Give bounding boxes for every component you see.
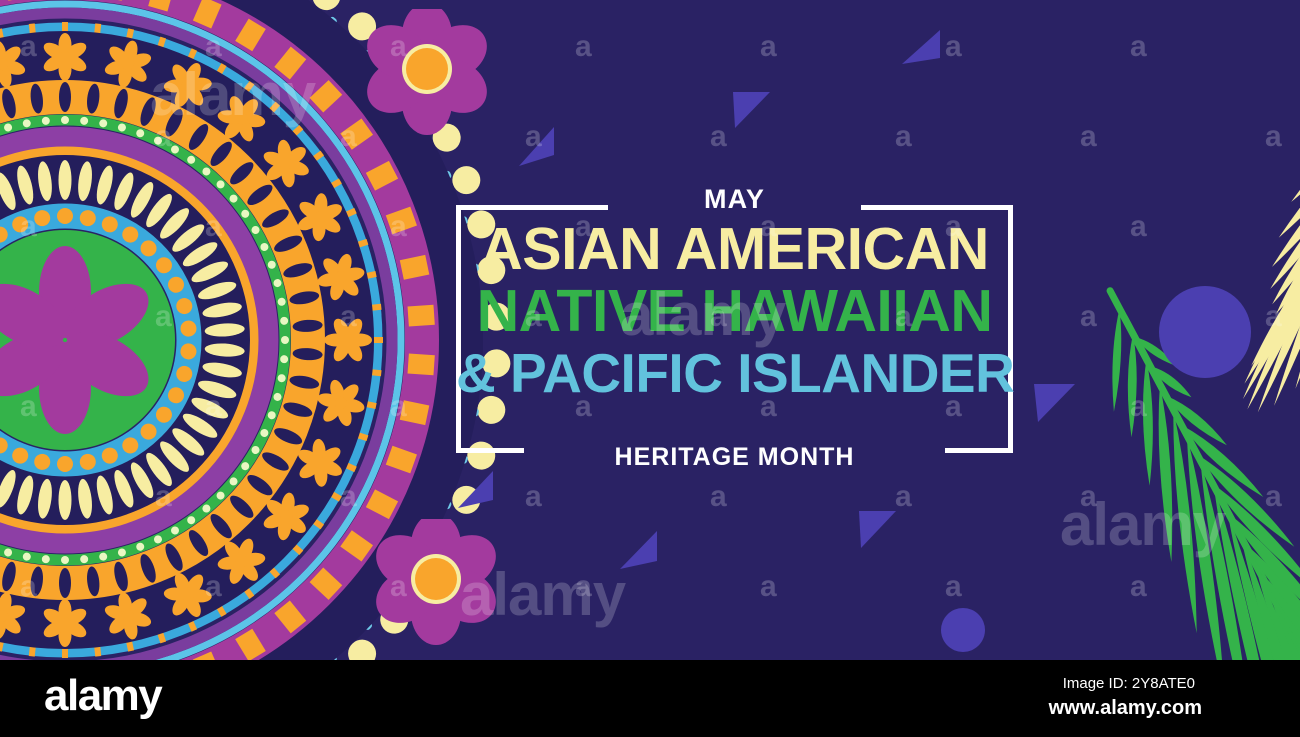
watermark-letter: a (895, 650, 912, 660)
purple-flower-bottom (370, 519, 502, 651)
watermark-letter: a (760, 30, 777, 64)
purple-circle-large (1159, 286, 1251, 378)
watermark-brand: alamy (460, 560, 625, 629)
alamy-footer-bar: alamy Image ID: 2Y8ATE0 www.alamy.com (0, 660, 1300, 737)
palm-leaf-yellow (980, 0, 1300, 264)
watermark-letter: a (1130, 30, 1147, 64)
purple-flower-top (361, 9, 493, 141)
triangle-confetti (617, 527, 659, 571)
watermark-letter: a (525, 650, 542, 660)
watermark-letter: a (20, 210, 37, 244)
triangle-confetti (1030, 380, 1078, 424)
watermark-letter: a (1130, 210, 1147, 244)
watermark-letter: a (945, 30, 962, 64)
watermark-letter: a (1130, 570, 1147, 604)
watermark-letter: a (205, 390, 222, 424)
alamy-url: www.alamy.com (1049, 697, 1202, 720)
watermark-letter: a (1080, 120, 1097, 154)
watermark-letter: a (575, 30, 592, 64)
watermark-letter: a (1265, 300, 1282, 334)
watermark-letter: a (390, 390, 407, 424)
watermark-letter: a (895, 480, 912, 514)
purple-circle-small (941, 608, 985, 652)
headline-line-3: & PACIFIC ISLANDER (456, 347, 1013, 401)
watermark-letter: a (525, 480, 542, 514)
watermark-letter: a (945, 570, 962, 604)
image-id-label: Image ID: 2Y8ATE0 (1063, 675, 1195, 692)
watermark-brand: alamy (1060, 490, 1225, 559)
watermark-letter: a (340, 480, 357, 514)
month-label: MAY (456, 186, 1013, 213)
watermark-letter: a (1080, 300, 1097, 334)
watermark-letter: a (155, 480, 172, 514)
headline-line-2: NATIVE HAWAIIAN (456, 283, 1013, 341)
headline-line-1: ASIAN AMERICAN (456, 221, 1013, 279)
watermark-letter: a (155, 300, 172, 334)
watermark-letter: a (1265, 120, 1282, 154)
triangle-confetti (730, 90, 772, 130)
triangle-confetti (515, 125, 555, 167)
watermark-letter: a (1080, 650, 1097, 660)
watermark-letter: a (710, 120, 727, 154)
watermark-letter: a (390, 210, 407, 244)
watermark-letter: a (760, 570, 777, 604)
watermark-letter: a (710, 480, 727, 514)
triangle-confetti (455, 468, 495, 510)
palm-leaf-green (964, 348, 1300, 660)
watermark-letter: a (205, 210, 222, 244)
heritage-month-label: HERITAGE MONTH (456, 445, 1013, 470)
mandala-rosette (0, 0, 525, 660)
alamy-logo: alamy (44, 674, 161, 718)
watermark-letter: a (1080, 480, 1097, 514)
poster-artwork: MAY ASIAN AMERICAN NATIVE HAWAIIAN & PAC… (0, 0, 1300, 660)
watermark-letter: a (155, 120, 172, 154)
triangle-confetti (898, 28, 942, 66)
watermark-letter: a (340, 650, 357, 660)
watermark-letter: a (340, 300, 357, 334)
headline-text: ASIAN AMERICAN NATIVE HAWAIIAN & PACIFIC… (456, 221, 1013, 401)
watermark-letter: a (20, 30, 37, 64)
watermark-brand: alamy (150, 60, 315, 129)
watermark-letter: a (205, 570, 222, 604)
watermark-letter: a (155, 650, 172, 660)
watermark-letter: a (1265, 480, 1282, 514)
watermark-letter: a (1130, 390, 1147, 424)
watermark-letter: a (710, 650, 727, 660)
watermark-letter: a (205, 30, 222, 64)
watermark-letter: a (20, 390, 37, 424)
headline-block: MAY ASIAN AMERICAN NATIVE HAWAIIAN & PAC… (456, 205, 1013, 453)
watermark-letter: a (390, 30, 407, 64)
watermark-letter: a (20, 570, 37, 604)
watermark-letter: a (340, 120, 357, 154)
watermark-letter: a (895, 120, 912, 154)
watermark-letter: a (575, 570, 592, 604)
watermark-letter: a (525, 120, 542, 154)
poster-screenshot: MAY ASIAN AMERICAN NATIVE HAWAIIAN & PAC… (0, 0, 1300, 737)
triangle-confetti (855, 508, 899, 550)
watermark-letter: a (390, 570, 407, 604)
watermark-letter: a (1265, 650, 1282, 660)
